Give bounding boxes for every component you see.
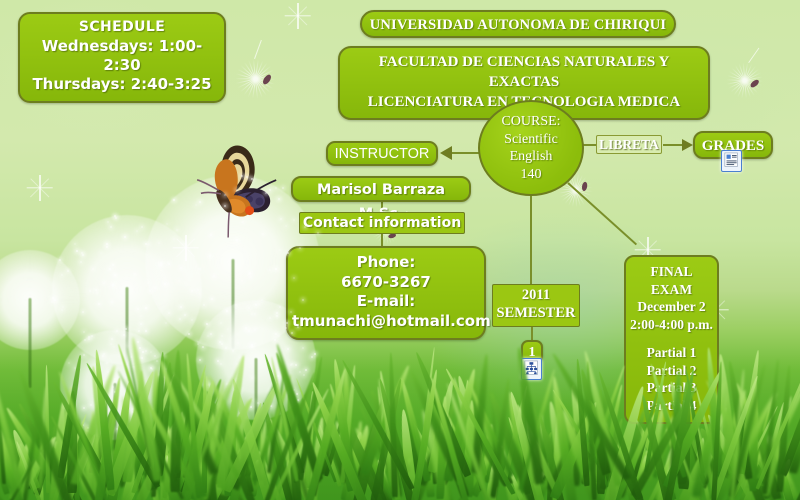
dandelion-seed-dot: [224, 205, 226, 207]
dandelion-seed-dot: [250, 276, 252, 278]
dandelion-seed-dot: [142, 351, 144, 353]
dandelion-seed-dot: [115, 217, 117, 219]
sparkle-ray: [39, 175, 40, 201]
connector-libreta-to-grades: [663, 144, 683, 146]
semester-label: SEMESTER: [495, 305, 577, 323]
dandelion-seed-dot: [150, 367, 152, 369]
dandelion-seed-dot: [167, 262, 169, 264]
dandelion-seed-dot: [83, 407, 85, 409]
dandelion-seed-dot: [299, 371, 301, 373]
dandelion-seed-dot: [287, 252, 289, 254]
connector-contact-to-phone: [381, 234, 383, 246]
email-label: E-mail:: [292, 292, 480, 312]
dandelion-seed-dot: [180, 306, 182, 308]
dandelion-seed-dot: [137, 308, 139, 310]
dandelion-seed-dot: [197, 343, 199, 345]
dandelion-seed-dot: [149, 290, 151, 292]
email-value: tmunachi@hotmail.com: [292, 312, 480, 332]
dandelion-seed-dot: [150, 351, 152, 353]
connector-course-to-semester: [530, 195, 532, 285]
dandelion-seed-dot: [280, 218, 282, 220]
dandelion-seed-dot: [114, 274, 116, 276]
dandelion-seed-dot: [107, 371, 109, 373]
phone-value: 6670-3267: [292, 273, 480, 293]
dandelion-seed-dot: [188, 333, 190, 335]
dandelion-seed-dot: [210, 333, 212, 335]
partial-item: Partial 2: [630, 362, 713, 380]
dandelion-seed-dot: [278, 335, 280, 337]
dandelion-seed-dot: [113, 346, 115, 348]
connector-course-to-final-exam: [567, 182, 637, 245]
dandelion-seed-dot: [221, 335, 223, 337]
dandelion-seed-dot: [293, 219, 295, 221]
dandelion-seed-dot: [305, 369, 307, 371]
dandelion-seed-dot: [269, 269, 271, 271]
dandelion-seed-dot: [168, 283, 170, 285]
dandelion-seed-dot: [141, 226, 143, 228]
faculty-line-1: FACULTAD DE CIENCIAS NATURALES Y EXACTAS: [344, 53, 704, 93]
seed-stem: [748, 48, 759, 63]
dandelion-seed-dot: [275, 333, 277, 335]
dandelion-seed-dot: [255, 304, 257, 306]
sparkle-ray: [30, 178, 49, 197]
arrow-to-grades: [682, 139, 693, 151]
contact-details-box[interactable]: Phone: 6670-3267 E-mail: tmunachi@hotmai…: [286, 246, 486, 340]
dandelion-seed-dot: [176, 229, 178, 231]
dandelion-seed-dot: [173, 238, 175, 240]
dandelion-seed-dot: [199, 359, 201, 361]
dandelion-seed-dot: [210, 234, 212, 236]
dandelion-seed-dot: [61, 274, 63, 276]
dandelion-seed-dot: [147, 282, 149, 284]
dandelion-seed-dot: [282, 187, 284, 189]
dandelion-seed-dot: [106, 246, 108, 248]
dandelion-seed-dot: [103, 282, 105, 284]
course-label: COURSE:: [501, 113, 560, 131]
mindmap-canvas: SCHEDULE Wednesdays: 1:00-2:30 Thursdays…: [0, 0, 800, 500]
sparkle-ray: [635, 249, 661, 250]
sparkle-ray: [288, 6, 307, 25]
dandelion-seed-dot: [250, 406, 252, 408]
dandelion-seed-dot: [165, 322, 167, 324]
dandelion-seed: [724, 38, 775, 89]
final-exam-time: 2:00-4:00 p.m.: [630, 316, 713, 334]
university-title-box[interactable]: UNIVERSIDAD AUTONOMA DE CHIRIQUI: [360, 10, 676, 38]
dandelion-seed-dot: [291, 332, 293, 334]
dandelion-seed-dot: [145, 350, 147, 352]
final-exam-title: FINAL EXAM: [630, 263, 713, 298]
dandelion-seed-dot: [241, 280, 243, 282]
sparkle-ray: [285, 15, 311, 16]
dandelion-seed-dot: [213, 275, 215, 277]
sparkle-ray: [297, 3, 298, 29]
dandelion-seed-dot: [191, 319, 193, 321]
final-exam-date: December 2: [630, 298, 713, 316]
libreta-box[interactable]: LIBRETA: [596, 135, 662, 154]
instructor-name-box[interactable]: Marisol Barraza M.Sc.: [291, 176, 471, 202]
dandelion-seed-dot: [275, 187, 277, 189]
dandelion-seed-dot: [285, 225, 287, 227]
phone-label: Phone:: [292, 253, 480, 273]
document-icon: [721, 150, 742, 172]
dandelion-seed-dot: [158, 242, 160, 244]
schedule-thursdays: Thursdays: 2:40-3:25: [26, 75, 218, 94]
dandelion-seed: [232, 36, 278, 82]
dandelion-seed-dot: [112, 284, 114, 286]
dandelion-seed-dot: [262, 233, 264, 235]
dandelion-seed-dot: [217, 360, 219, 362]
dandelion-seed-dot: [251, 313, 253, 315]
course-name-line-1: Scientific: [501, 131, 560, 149]
dandelion-seed-dot: [199, 293, 201, 295]
seed-stem: [254, 40, 262, 59]
dandelion-seed-dot: [254, 329, 256, 331]
dandelion-seed-dot: [110, 226, 112, 228]
course-name-line-2: English: [501, 148, 560, 166]
schedule-box[interactable]: SCHEDULE Wednesdays: 1:00-2:30 Thursdays…: [18, 12, 226, 103]
dandelion-seed-dot: [145, 307, 147, 309]
dandelion-seed-dot: [236, 189, 238, 191]
dandelion-seed-dot: [317, 232, 319, 234]
dandelion-seed-dot: [278, 198, 280, 200]
course-code: 140: [501, 166, 560, 184]
sparkle-ray: [288, 6, 307, 25]
connector-course-to-libreta: [583, 144, 597, 146]
schedule-title: SCHEDULE: [26, 19, 218, 37]
dandelion-seed-dot: [102, 355, 104, 357]
spacer: [630, 333, 713, 344]
arrow-to-instructor: [440, 146, 452, 160]
dandelion-seed-dot: [89, 290, 91, 292]
instructor-heading-box[interactable]: INSTRUCTOR: [326, 141, 438, 166]
dandelion-seed-dot: [98, 303, 100, 305]
dandelion-seed-dot: [141, 357, 143, 359]
connector-course-to-instructor: [450, 152, 480, 154]
semester-box[interactable]: 2011 SEMESTER: [492, 284, 580, 327]
dandelion-seed-dot: [95, 289, 97, 291]
sparkle-ray: [27, 187, 53, 188]
dandelion-seed-dot: [112, 264, 114, 266]
dandelion-seed-dot: [246, 176, 248, 178]
contact-information-box[interactable]: Contact information: [299, 212, 465, 234]
course-node[interactable]: COURSE: Scientific English 140: [478, 100, 584, 196]
dandelion-seed-dot: [290, 364, 292, 366]
dandelion-seed-dot: [84, 339, 86, 341]
schedule-wednesdays: Wednesdays: 1:00-2:30: [26, 37, 218, 75]
partial-item: Partial 1: [630, 344, 713, 362]
semester-year: 2011: [495, 287, 577, 305]
dandelion-seed-dot: [265, 192, 267, 194]
dandelion-seed-dot: [303, 374, 305, 376]
dandelion-seed-dot: [276, 315, 278, 317]
sparkle-ray: [30, 178, 49, 197]
dandelion-seed-dot: [82, 311, 84, 313]
dandelion-seed-dot: [154, 355, 156, 357]
butterfly: [175, 140, 280, 240]
dandelion-seed-dot: [236, 239, 238, 241]
dandelion-seed-dot: [251, 344, 253, 346]
